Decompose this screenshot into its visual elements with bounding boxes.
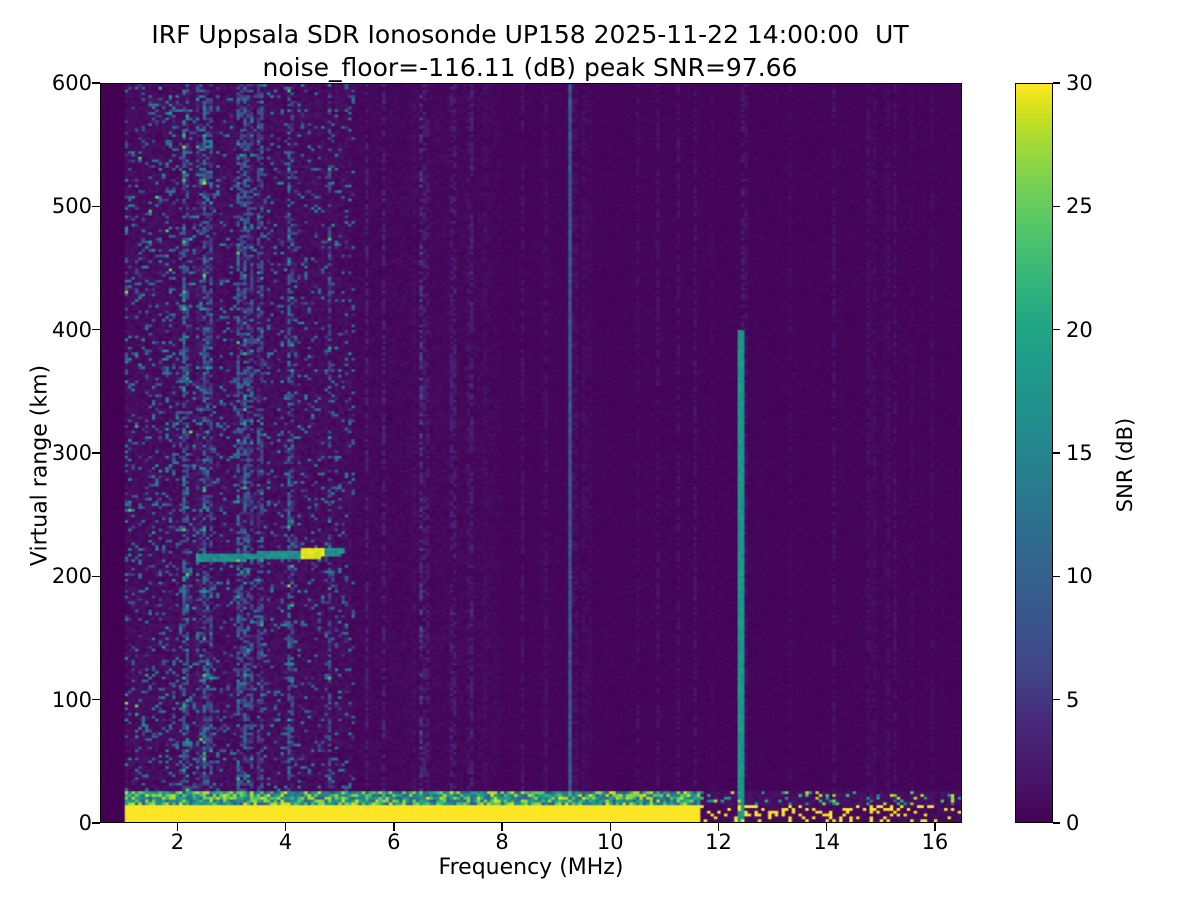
colorbar-tick-mark [1053, 576, 1060, 577]
y-tick-label: 300 [52, 441, 92, 465]
title-line-1: IRF Uppsala SDR Ionosonde UP158 2025-11-… [0, 18, 1060, 51]
x-tick-label: 16 [922, 830, 949, 854]
y-tick-label: 600 [52, 71, 92, 95]
colorbar-tick-mark [1053, 206, 1060, 207]
x-axis-label: Frequency (MHz) [100, 855, 962, 880]
y-tick-label: 500 [52, 194, 92, 218]
colorbar-tick-mark [1053, 329, 1060, 330]
x-tick-label: 6 [387, 830, 400, 854]
colorbar-tick-mark [1053, 82, 1060, 83]
x-tick-label: 12 [705, 830, 732, 854]
colorbar-tick-mark [1053, 452, 1060, 453]
x-tick-label: 4 [279, 830, 292, 854]
ionogram-plot-area [100, 83, 962, 823]
colorbar-tick-mark [1053, 699, 1060, 700]
title-line-2: noise_floor=-116.11 (dB) peak SNR=97.66 [0, 51, 1060, 84]
x-tick-label: 14 [813, 830, 840, 854]
x-tick-label: 8 [495, 830, 508, 854]
x-tick-label: 10 [597, 830, 624, 854]
y-tick-label: 200 [52, 564, 92, 588]
colorbar-tick-label: 5 [1066, 688, 1079, 712]
x-tick-label: 2 [171, 830, 184, 854]
ionogram-heatmap [101, 84, 961, 822]
y-tick-mark [92, 576, 100, 577]
y-axis-label: Virtual range (km) [28, 266, 53, 666]
colorbar-tick-label: 30 [1066, 71, 1093, 95]
y-tick-mark [92, 82, 100, 83]
y-tick-label: 0 [79, 811, 92, 835]
ionogram-figure: IRF Uppsala SDR Ionosonde UP158 2025-11-… [0, 0, 1200, 900]
colorbar-gradient [1015, 83, 1053, 823]
figure-title: IRF Uppsala SDR Ionosonde UP158 2025-11-… [0, 18, 1060, 84]
colorbar-label: SNR (dB) [1113, 265, 1137, 665]
colorbar-tick-label: 0 [1066, 811, 1079, 835]
y-tick-label: 400 [52, 318, 92, 342]
colorbar-tick-label: 15 [1066, 441, 1093, 465]
colorbar-tick-mark [1053, 822, 1060, 823]
y-tick-mark [92, 822, 100, 823]
y-tick-mark [92, 699, 100, 700]
colorbar-tick-label: 25 [1066, 194, 1093, 218]
colorbar-tick-label: 20 [1066, 318, 1093, 342]
y-tick-mark [92, 452, 100, 453]
colorbar-tick-label: 10 [1066, 564, 1093, 588]
y-tick-mark [92, 329, 100, 330]
y-tick-label: 100 [52, 688, 92, 712]
y-tick-mark [92, 206, 100, 207]
